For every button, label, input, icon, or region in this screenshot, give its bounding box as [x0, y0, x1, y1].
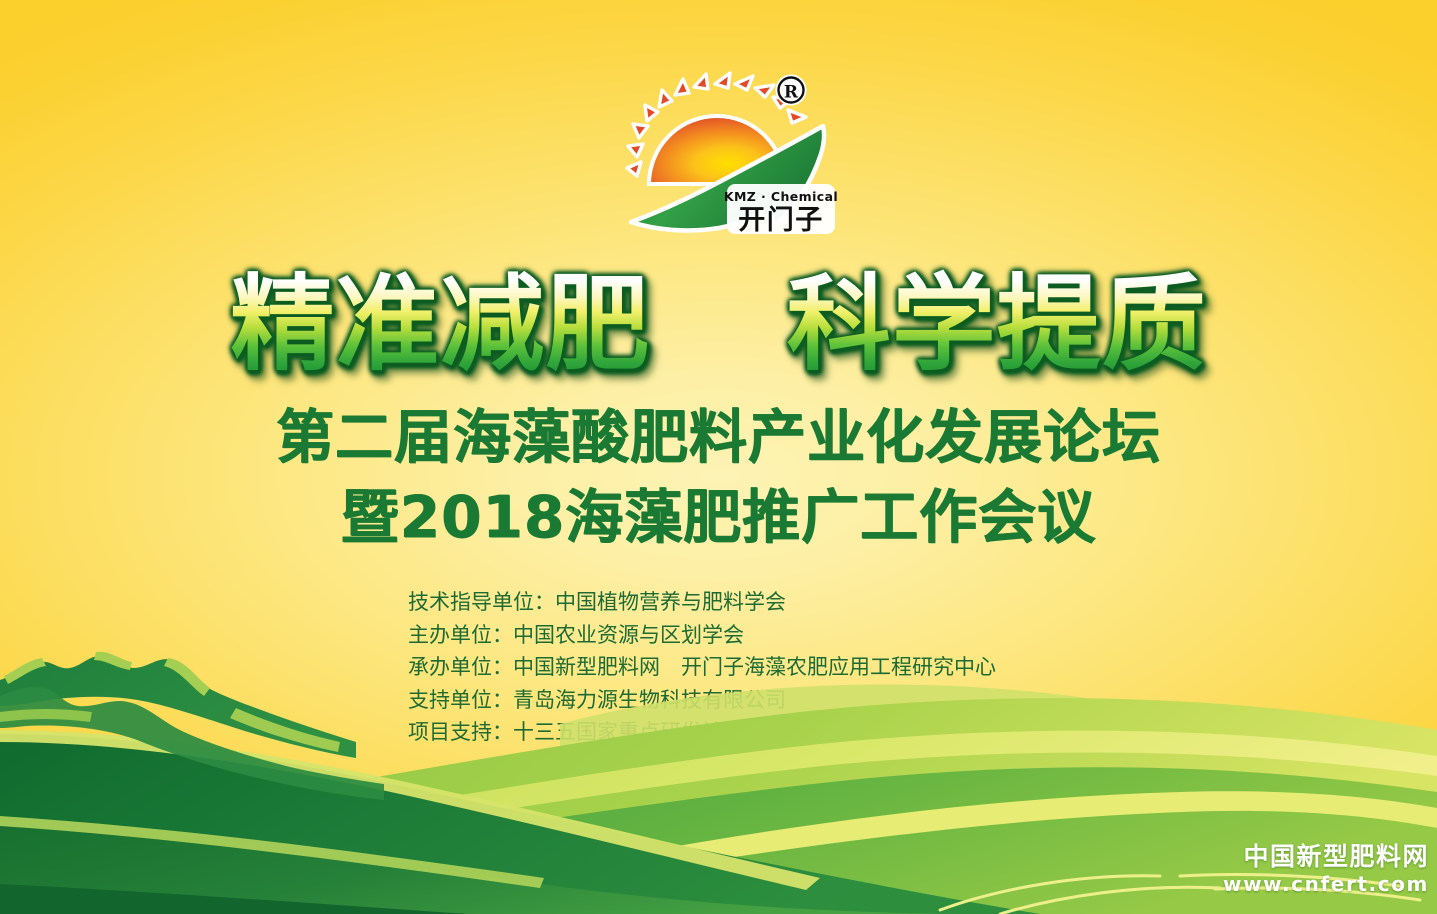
watermark-site-name: 中国新型肥料网	[1223, 842, 1429, 872]
headline: 精准减肥 科学提质	[0, 268, 1437, 380]
site-watermark: 中国新型肥料网 www.cnfert.com	[1223, 842, 1429, 896]
logo-artwork: R KMZ · Chemical 开门子	[615, 58, 845, 250]
headline-part1: 精准减肥	[230, 263, 650, 385]
kmz-chemical-logo: R KMZ · Chemical 开门子	[615, 58, 845, 250]
landscape-illustration	[0, 584, 1437, 914]
poster-canvas: R KMZ · Chemical 开门子 精准减肥 科学提质 第二届海藻酸肥料产…	[0, 0, 1437, 914]
watermark-url: www.cnfert.com	[1223, 872, 1429, 896]
headline-part2: 科学提质	[787, 263, 1207, 385]
registered-trademark-icon: R	[776, 75, 807, 106]
landscape-artwork	[0, 584, 1437, 914]
subtitle-line-2: 暨2018海藻肥推广工作会议	[0, 484, 1437, 550]
logo-brand-en: KMZ · Chemical	[724, 189, 838, 204]
svg-text:R: R	[784, 83, 799, 103]
logo-brand-cn: 开门子	[738, 205, 824, 236]
subtitle-line-1: 第二届海藻酸肥料产业化发展论坛	[0, 404, 1437, 470]
